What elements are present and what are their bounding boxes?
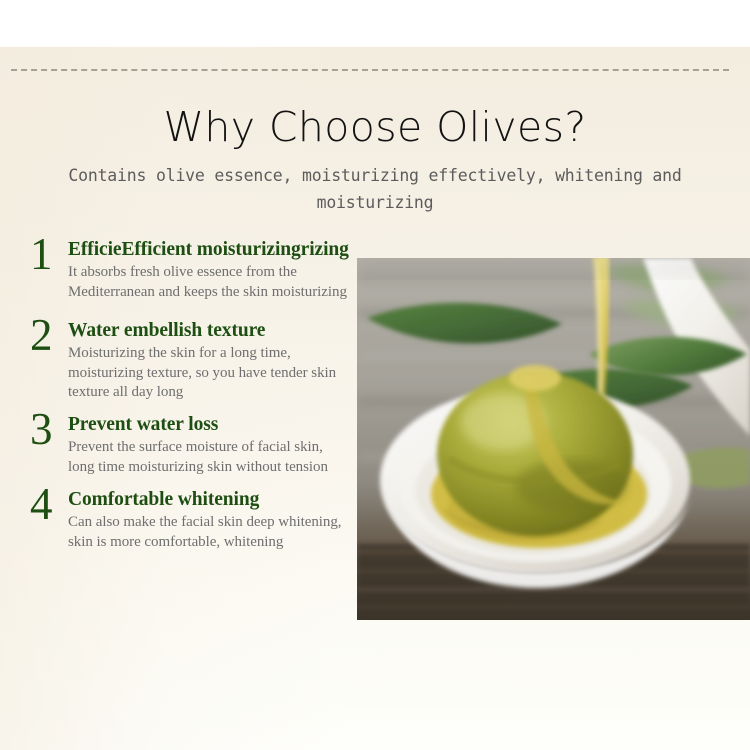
product-detail-page: Why Choose Olives? Contains olive essenc…: [0, 0, 750, 750]
feature-number: 4: [30, 482, 64, 527]
feature-item: 4 Comfortable whitening Can also make th…: [30, 490, 350, 553]
feature-number: 1: [30, 232, 64, 277]
feature-description: It absorbs fresh olive essence from the …: [68, 263, 350, 303]
feature-title: EfficieEfficient moisturizingrizing: [68, 240, 350, 261]
feature-item: 1 EfficieEfficient moisturizingrizing It…: [30, 240, 350, 303]
page-subtitle: Contains olive essence, moisturizing eff…: [60, 163, 690, 216]
olive-photo-illustration: [357, 258, 750, 620]
olive-product-photo: [357, 258, 750, 620]
feature-description: Can also make the facial skin deep white…: [68, 513, 350, 553]
feature-title: Prevent water loss: [68, 415, 350, 436]
feature-description: Prevent the surface moisture of facial s…: [68, 438, 350, 478]
page-title: Why Choose Olives?: [0, 106, 750, 149]
feature-number: 3: [30, 407, 64, 452]
feature-list: 1 EfficieEfficient moisturizingrizing It…: [30, 240, 350, 553]
feature-item: 2 Water embellish texture Moisturizing t…: [30, 321, 350, 404]
feature-title: Water embellish texture: [68, 321, 350, 342]
feature-number: 2: [30, 313, 64, 358]
dashed-divider: [11, 69, 729, 71]
feature-item: 3 Prevent water loss Prevent the surface…: [30, 415, 350, 478]
feature-description: Moisturizing the skin for a long time, m…: [68, 344, 350, 404]
feature-title: Comfortable whitening: [68, 490, 350, 511]
